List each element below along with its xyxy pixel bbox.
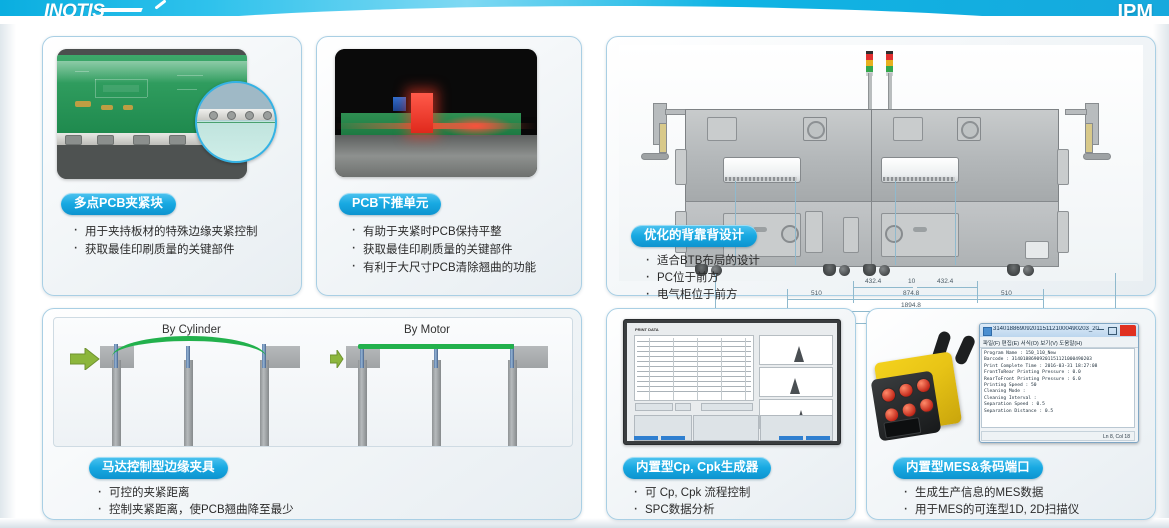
notepad-menu-bar[interactable]: 파일(F) 편집(E) 서식(O) 보기(V) 도움말(H) [980, 337, 1138, 348]
diagram-label-by-motor: By Motor [404, 324, 450, 336]
dim-side-right: 510 [1001, 290, 1012, 297]
flat-pcb-board [358, 344, 514, 349]
notepad-title-text: 31401886909201151121000490203_20... [993, 326, 1103, 332]
warped-pcb-board [112, 336, 266, 357]
bullet-item: 获取最佳印刷质量的关键部件 [347, 241, 536, 259]
card-mes-barcode-port: 31401886909201151121000490203_20... 파일(F… [866, 308, 1156, 520]
card-pcb-push-down-unit: PCB下推单元 有助于夹紧时PCB保持平整 获取最佳印刷质量的关键部件 有利于大… [316, 36, 582, 296]
scanner-led-icon [880, 387, 897, 404]
dim-inner-right: 432.4 [937, 278, 953, 285]
photo-dark-background [335, 49, 537, 117]
diagram-label-by-cylinder: By Cylinder [162, 324, 221, 336]
software-window-title: PRINT DATA [635, 327, 659, 332]
dim-gap: 10 [908, 278, 915, 285]
card-title-btb-design: 优化的背靠背设计 [631, 225, 757, 247]
spc-software-screenshot: PRINT DATA [623, 319, 841, 445]
card-multipoint-pcb-clamp: 多点PCB夹紧块 用于夹持板材的特殊边缘夹紧控制 获取最佳印刷质量的关键部件 [42, 36, 302, 296]
bullet-list-btb: 适合BTB布局的设计 PC位于前方 电气柜位于前方 [641, 253, 760, 304]
logo-tick-decoration [154, 0, 166, 10]
minimize-icon[interactable] [1097, 329, 1104, 330]
notepad-app-icon [983, 327, 992, 336]
fan-icon-right [957, 117, 981, 141]
ipm-product-logo: IPM [1117, 1, 1153, 24]
bullet-item: 可控的夹紧距离 [93, 485, 294, 502]
bullet-item: 用于MES的可连型1D, 2D扫描仪 [899, 502, 1079, 519]
scanner-led-icon [897, 382, 914, 399]
pcb-sheen [57, 61, 247, 83]
notepad-title-bar[interactable]: 31401886909201151121000490203_20... [980, 324, 1138, 338]
card-back-to-back-design: 432.4 10 432.4 510 874.8 510 1894.8 2908… [606, 36, 1156, 296]
scanner-lens-face [871, 371, 942, 442]
bullet-item: 用于夹持板材的特殊边缘夹紧控制 [69, 223, 258, 241]
histogram-chart-y [759, 367, 833, 397]
bullet-list-clamp: 用于夹持板材的特殊边缘夹紧控制 获取最佳印刷质量的关键部件 [69, 223, 258, 259]
left-edge-decoration [0, 24, 16, 528]
bullet-list-mes: 生成生产信息的MES数据 用于MES的可连型1D, 2D扫描仪 [899, 485, 1079, 519]
large-force-arrow-icon [70, 348, 100, 370]
header-curve-decoration [0, 6, 1169, 24]
card-title-mes-barcode: 内置型MES&条码端口 [893, 457, 1043, 479]
brand-text: INOTIS [44, 1, 104, 22]
bullet-item: 获取最佳印刷质量的关键部件 [69, 241, 258, 259]
spc-data-table [634, 335, 754, 401]
notepad-status-bar: Ln 8, Col 18 [981, 431, 1135, 441]
barcode-scanner-photo [873, 331, 991, 443]
small-force-arrow-icon [330, 350, 344, 368]
bullet-list-pushdown: 有助于夹紧时PCB保持平整 获取最佳印刷质量的关键部件 有利于大尺寸PCB清除翘… [347, 223, 536, 277]
card-title-cp-cpk: 内置型Cp, Cpk生成器 [623, 457, 771, 479]
bullet-item: 生成生产信息的MES数据 [899, 485, 1079, 502]
card-title-motor-edge-clamp: 马达控制型边缘夹具 [89, 457, 228, 479]
inotis-logo: INOTIS [44, 1, 104, 23]
bullet-item: 适合BTB布局的设计 [641, 253, 760, 270]
red-light-glow [439, 115, 513, 137]
scanner-led-icon [901, 401, 918, 418]
bullet-item: 可 Cp, Cpk 流程控制 [629, 485, 750, 502]
card-title-multipoint-clamp: 多点PCB夹紧块 [61, 193, 176, 215]
fan-icon-left [803, 117, 827, 141]
bullet-item: PC位于前方 [641, 270, 760, 287]
card-cp-cpk-generator: PRINT DATA [606, 308, 856, 520]
bullet-item: 电气柜位于前方 [641, 287, 760, 304]
magnified-green-edge [197, 122, 275, 123]
dim-inner-left: 432.4 [865, 278, 881, 285]
card-title-push-down-unit: PCB下推单元 [339, 193, 441, 215]
cylinder-vs-motor-diagram: By Cylinder By Motor [53, 317, 573, 447]
close-icon[interactable] [1120, 325, 1136, 336]
blue-component [393, 97, 406, 111]
magnifier-callout-icon [195, 81, 277, 163]
dim-side-left: 510 [811, 290, 822, 297]
stats-group-y [693, 415, 759, 441]
bullet-list-cpk: 可 Cp, Cpk 流程控制 SPC数据分析 [629, 485, 750, 519]
push-down-photo [335, 49, 537, 177]
bullet-item: 控制夹紧距离，使PCB翘曲降至最少 [93, 502, 294, 519]
app-header: INOTIS IPM [0, 0, 1169, 24]
software-window-body: PRINT DATA [627, 323, 837, 441]
logo-slash-decoration [99, 8, 143, 12]
dim-middle: 874.8 [903, 290, 919, 297]
histogram-chart-x [759, 335, 833, 365]
scanner-led-icon [915, 377, 932, 394]
bullet-item: 有利于大尺寸PCB清除翘曲的功能 [347, 259, 536, 277]
machine-table [335, 135, 537, 177]
bullet-item: SPC数据分析 [629, 502, 750, 519]
notepad-text-content[interactable]: Program Name : 150_110_New Barcode : 314… [981, 348, 1135, 428]
notepad-window[interactable]: 31401886909201151121000490203_20... 파일(F… [979, 323, 1139, 443]
scanner-led-icon [918, 397, 935, 414]
card-motor-edge-clamp: By Cylinder By Motor 马达控制型边缘夹具 可控的夹紧距离 控… [42, 308, 582, 520]
bullet-list-edge: 可控的夹紧距离 控制夹紧距离，使PCB翘曲降至最少 [93, 485, 294, 519]
bullet-item: 有助于夹紧时PCB保持平整 [347, 223, 536, 241]
red-illuminated-pusher [411, 93, 433, 133]
maximize-icon[interactable] [1108, 327, 1117, 335]
